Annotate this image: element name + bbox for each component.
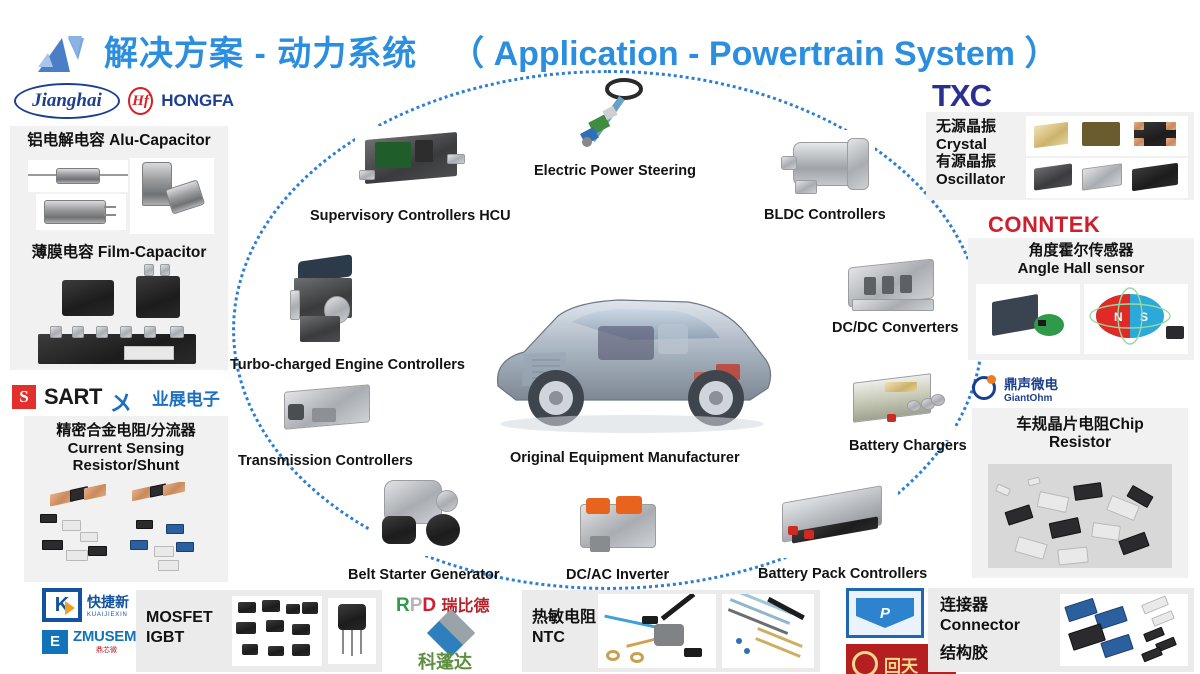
center-label-bldc: BLDC Controllers [764, 207, 886, 223]
yezhan-mark-icon: 〤 [110, 386, 144, 408]
cutaway-car-photo [480, 268, 780, 448]
zmusemi-mark-icon: E [42, 630, 68, 654]
chip-resistor-2 [62, 520, 81, 531]
connector-line-en: Connector [940, 616, 1020, 636]
connector-lines: 连接器 Connector [940, 596, 1020, 636]
film-capacitor-photo-a [56, 272, 120, 322]
current-sensing-title-en2: Resistor/Shunt [24, 457, 228, 475]
kuaijiexin-logo-text: 快捷新 [87, 592, 129, 612]
left-panel-2-brands: S SART 〤 业展电子 [12, 382, 234, 412]
engine-photo [280, 250, 370, 350]
crystal-oscillator-lines: 无源晶振 Crystal 有源晶振 Oscillator [936, 118, 1005, 189]
chip-resistor-7 [136, 520, 153, 529]
center-label-battery-pack: Battery Pack Controllers [758, 566, 927, 582]
battery-charger-photo [845, 368, 955, 440]
mosfet-igbt-panel: MOSFET IGBT [136, 590, 382, 672]
giantohm-logo: 鼎声微电 GiantOhm [972, 372, 1122, 404]
current-sensing-title: 精密合金电阻/分流器 Current Sensing Resistor/Shun… [24, 422, 228, 475]
zmusemi-logo-text: ZMUSEMI [73, 628, 140, 645]
shunt-photo-b [132, 482, 188, 506]
chip-resistor-6 [88, 546, 107, 556]
giantohm-logo-cn: 鼎声微电 [1004, 373, 1058, 393]
bottom-panel-1-brands: K 快捷新 KUAIJIEXIN E ZMUSEMI 鼎芯微 [42, 588, 142, 668]
ntc-sensor-photo-b [722, 594, 814, 668]
inverter-photo [568, 490, 672, 562]
crystal-line-3: 有源晶振 [936, 153, 1005, 171]
chip-resistor-11 [176, 542, 194, 552]
ntc-line-en: NTC [532, 628, 596, 648]
alu-capacitor-title: 铝电解电容 Alu-Capacitor [10, 132, 228, 150]
crystal-line-2: Crystal [936, 136, 1005, 154]
center-label-dcdc: DC/DC Converters [832, 320, 959, 336]
connector-parts-photo [1060, 594, 1188, 666]
alu-capacitor-title-cn: 铝电解电容 [27, 132, 105, 149]
alu-capacitor-photo-c [130, 158, 214, 234]
chip-resistor-4 [42, 540, 63, 550]
chip-resistor-3 [80, 532, 98, 542]
center-label-oem: Original Equipment Manufacturer [510, 450, 740, 466]
kuaijiexin-mark-icon: K [42, 588, 82, 622]
angle-hall-title: 角度霍尔传感器 Angle Hall sensor [968, 242, 1194, 277]
chip-resistor-9 [130, 540, 148, 550]
ntc-lines: 热敏电阻 NTC [532, 608, 596, 648]
chip-resistor-10 [154, 546, 174, 557]
chip-resistor-title-en: Resistor [972, 434, 1188, 452]
center-label-hcu: Supervisory Controllers HCU [310, 208, 511, 224]
transmission-ecu-photo [272, 378, 380, 440]
ntc-line-cn: 热敏电阻 [532, 608, 596, 628]
mosfet-igbt-lines: MOSFET IGBT [146, 608, 213, 648]
crystal-oscillator-panel: 无源晶振 Crystal 有源晶振 Oscillator [926, 112, 1194, 200]
alu-capacitor-photo-b [36, 194, 126, 230]
hongfa-mark-icon: Hf [128, 87, 153, 115]
sart-logo-text: SART [44, 384, 102, 410]
bsg-photo [370, 470, 478, 556]
igbt-line: IGBT [146, 628, 213, 648]
angle-hall-sensor-panel: 角度霍尔传感器 Angle Hall sensor N S [968, 238, 1194, 360]
film-capacitor-title-en: Film-Capacitor [98, 244, 207, 261]
page-title-en: （ Application - Powertrain System ） [450, 35, 1058, 73]
power-module-photo [38, 324, 196, 368]
huitian-mark-icon [852, 651, 878, 674]
connector-adhesive-panel: 连接器 Connector 结构胶 [928, 588, 1194, 672]
oscillator-part-2 [1082, 163, 1122, 191]
alu-capacitor-photo-a [28, 160, 128, 192]
chip-resistor-5 [66, 550, 88, 561]
center-label-bsg: Belt Starter Generator [348, 567, 500, 583]
rpd-logo-text: RPD 瑞比德 [396, 592, 526, 617]
connector-line-cn: 连接器 [940, 596, 1020, 616]
film-capacitor-photo-b [128, 262, 188, 324]
chip-resistor-photo [988, 464, 1172, 568]
crystal-line-4: Oscillator [936, 171, 1005, 189]
title-bar: 解决方案 - 动力系统 （ Application - Powertrain S… [0, 12, 1200, 66]
triangles-logo-icon [36, 34, 98, 78]
slide-root: 解决方案 - 动力系统 （ Application - Powertrain S… [0, 0, 1200, 674]
center-label-inverter: DC/AC Inverter [566, 567, 669, 583]
center-label-turbo: Turbo-charged Engine Controllers [230, 357, 465, 373]
crystal-part-2 [1082, 122, 1120, 146]
chip-resistor-8 [166, 524, 184, 534]
chip-resistor-panel: 车规晶片电阻Chip Resistor [972, 408, 1188, 578]
sart-mark-icon: S [12, 385, 36, 409]
angle-hall-title-en: Angle Hall sensor [968, 260, 1194, 278]
chip-resistor-title-cn: 车规晶片电阻Chip [972, 416, 1188, 434]
giantohm-logo-en: GiantOhm [1004, 393, 1058, 404]
crystal-part-1 [1034, 122, 1068, 148]
hongfa-logo-text: HONGFA [161, 91, 234, 111]
oscillator-part-1 [1034, 163, 1072, 190]
mosfet-package-photo [232, 596, 322, 666]
adhesive-line: 结构胶 [940, 644, 988, 664]
current-sensing-title-en: Current Sensing [24, 440, 228, 458]
ntc-panel: 热敏电阻 NTC [522, 590, 820, 672]
film-capacitor-title-cn: 薄膜电容 [32, 244, 94, 261]
bottom-panel-2-brands: RPD 瑞比德 科蓬达 [396, 592, 526, 668]
battery-pack-photo [770, 480, 898, 558]
hall-motor-photo [976, 284, 1080, 354]
alu-film-capacitor-panel: 铝电解电容 Alu-Capacitor 薄膜电容 Film-Capacitor [10, 126, 228, 370]
chip-resistor-title: 车规晶片电阻Chip Resistor [972, 416, 1188, 453]
txc-logo: TXC Best of Frequency, Best of TXC [932, 78, 1042, 114]
center-label-eps: Electric Power Steering [534, 163, 696, 179]
conntek-logo-text: CONNTEK [988, 212, 1128, 238]
conntek-logo: CONNTEK [988, 212, 1128, 238]
hall-magnet-photo: N S [1084, 284, 1188, 354]
oscillator-part-3 [1132, 163, 1178, 191]
page-title-cn: 解决方案 - 动力系统 [104, 35, 417, 73]
page-title: 解决方案 - 动力系统 （ Application - Powertrain S… [104, 26, 1058, 75]
chip-resistor-1 [40, 514, 57, 523]
dcdc-converter-photo [838, 255, 948, 323]
kelianda-logo-text: 科蓬达 [418, 648, 472, 674]
bldc-motor-photo [775, 130, 875, 202]
angle-hall-title-cn: 角度霍尔传感器 [968, 242, 1194, 260]
crystal-photo-row-1 [1026, 116, 1188, 156]
oscillator-photo-row-2 [1026, 158, 1188, 198]
steering-column-photo [560, 78, 670, 158]
kuaijiexin-logo-sub: KUAIJIEXIN [87, 612, 129, 618]
alu-capacitor-title-en: Alu-Capacitor [109, 132, 211, 149]
center-label-transmission: Transmission Controllers [238, 453, 413, 469]
film-capacitor-title: 薄膜电容 Film-Capacitor [10, 244, 228, 262]
left-panel-1-brands: Jianghai Hf HONGFA [14, 84, 234, 118]
mosfet-line: MOSFET [146, 608, 213, 628]
chip-resistor-12 [158, 560, 179, 571]
ntc-sensor-photo-a [598, 594, 716, 668]
giantohm-mark-icon [972, 376, 996, 400]
current-sensing-panel: 精密合金电阻/分流器 Current Sensing Resistor/Shun… [24, 416, 228, 582]
yezhan-logo-text: 业展电子 [152, 385, 220, 410]
shunt-photo-a [50, 484, 108, 510]
current-sensing-title-cn: 精密合金电阻/分流器 [24, 422, 228, 440]
crystal-line-1: 无源晶振 [936, 118, 1005, 136]
jianghai-logo: Jianghai [14, 83, 120, 119]
igbt-package-photo [328, 598, 376, 664]
zmusemi-logo-sub: 鼎芯微 [73, 645, 140, 655]
hcu-module-photo [355, 126, 467, 192]
connector-logo-mark: P [856, 598, 914, 628]
center-label-charger: Battery Chargers [849, 438, 967, 454]
connector-logo: P [846, 588, 924, 638]
txc-logo-text: TXC [932, 78, 1042, 114]
huitian-logo-text: 回天 [884, 652, 918, 674]
